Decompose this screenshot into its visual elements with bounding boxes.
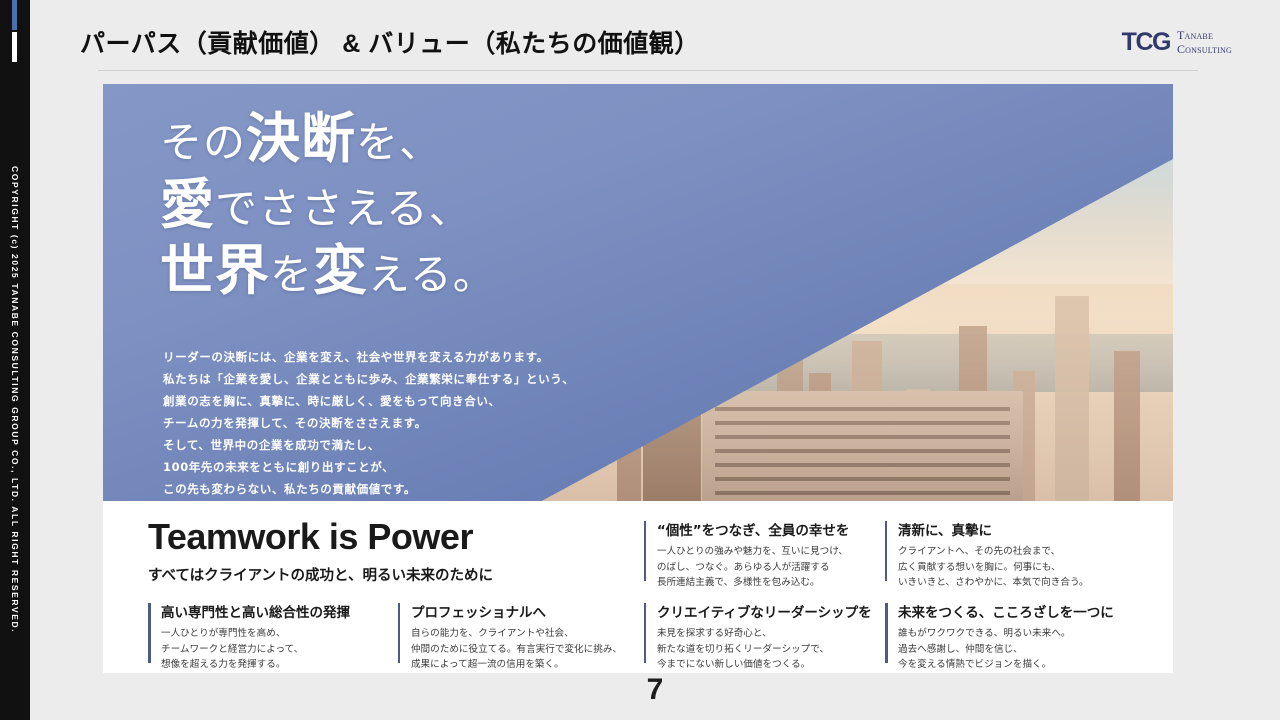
value-body-line: チームワークと経営力によって、 xyxy=(161,642,398,658)
values-grid: Teamwork is Power すべてはクライアントの成功と、明るい未来のた… xyxy=(148,519,1133,673)
headline-line-1: その決断を、 xyxy=(160,106,496,172)
value-body-line: 仲間のために役立てる。有言実行で変化に挑み、 xyxy=(411,642,644,658)
headline-seg: を、 xyxy=(356,118,442,167)
value-body-line: 未見を探求する好奇心と、 xyxy=(657,626,885,642)
value-title: 未来をつくる、こころざしを一つに xyxy=(898,601,1133,621)
header-divider xyxy=(98,70,1198,71)
value-title: プロフェッショナルへ xyxy=(411,601,644,621)
value-body-line: 長所連結主義で、多様性を包み込む。 xyxy=(657,575,885,591)
headline-seg: を xyxy=(270,250,313,299)
value-item-expertise: 高い専門性と高い総合性の発揮 一人ひとりが専門性を高め、 チームワークと経営力に… xyxy=(148,601,398,673)
headline-seg: 愛 xyxy=(160,173,215,236)
value-body-line: のばし、つなぐ。あらゆる人が活躍する xyxy=(657,560,885,576)
hero-body-paragraph: リーダーの決断には、企業を変え、社会や世界を変える力があります。 私たちは「企業… xyxy=(163,346,574,501)
value-title: クリエイティブなリーダーシップを xyxy=(657,601,885,621)
value-body-line: 想像を超える力を発揮する。 xyxy=(161,657,398,673)
headline-line-2: 愛でささえる、 xyxy=(160,172,496,238)
tanabe-consulting-logo: TCG Tanabe Consulting xyxy=(1122,28,1232,57)
value-title: “個性”をつなぎ、全員の幸せを xyxy=(657,519,885,539)
page-title: パーパス（貢献価値） & バリュー（私たちの価値観） xyxy=(80,24,700,60)
value-body-line: 成果によって超一流の信用を築く。 xyxy=(411,657,644,673)
copyright-notice: COPYRIGHT (c) 2025 TANABE CONSULTING GRO… xyxy=(0,0,30,720)
value-body-line: 今までにない新しい価値をつくる。 xyxy=(657,657,885,673)
value-body: 誰もがワクワクできる、明るい未来へ。 過去へ感謝し、仲間を信じ、 今を変える情熱… xyxy=(898,626,1133,673)
value-title: 清新に、真摯に xyxy=(898,519,1133,539)
values-row-top: Teamwork is Power すべてはクライアントの成功と、明るい未来のた… xyxy=(148,519,1133,601)
value-body-line: 誰もがワクワクできる、明るい未来へ。 xyxy=(898,626,1133,642)
logo-word-line2: Consulting xyxy=(1177,43,1232,56)
value-body: 自らの能力を、クライアントや社会、 仲間のために役立てる。有言実行で変化に挑み、… xyxy=(411,626,644,673)
headline-seg: でささえる、 xyxy=(215,184,472,233)
value-body: 一人ひとりの強みや魅力を、互いに見つけ、 のばし、つなぐ。あらゆる人が活躍する … xyxy=(657,544,885,591)
value-body: 一人ひとりが専門性を高め、 チームワークと経営力によって、 想像を超える力を発揮… xyxy=(161,626,398,673)
value-body-line: 自らの能力を、クライアントや社会、 xyxy=(411,626,644,642)
hero-body-line: チームの力を発揮して、その決断をささえます。 xyxy=(163,412,574,434)
value-body-line: 新たな道を切り拓くリーダーシップで、 xyxy=(657,642,885,658)
logo-wordmark: Tanabe Consulting xyxy=(1177,29,1232,56)
brand-statement-en: Teamwork is Power xyxy=(148,519,644,555)
logo-mark-tcg: TCG xyxy=(1122,28,1170,57)
headline-seg: 決断 xyxy=(246,107,356,170)
headline-seg: える。 xyxy=(368,250,496,299)
value-item-leadership: クリエイティブなリーダーシップを 未見を探求する好奇心と、 新たな道を切り拓くリ… xyxy=(644,601,885,673)
value-body-line: 一人ひとりが専門性を高め、 xyxy=(161,626,398,642)
headline-line-3: 世界を変える。 xyxy=(160,238,496,304)
hero-body-line: この先も変わらない、私たちの貢献価値です。 xyxy=(163,478,574,500)
hero-headline: その決断を、 愛でささえる、 世界を変える。 xyxy=(160,106,496,304)
hero-body-line: 創業の志を胸に、真摯に、時に厳しく、愛をもって向き合い、 xyxy=(163,390,574,412)
slide-canvas: パーパス（貢献価値） & バリュー（私たちの価値観） TCG Tanabe Co… xyxy=(30,0,1280,720)
values-row-bottom: 高い専門性と高い総合性の発揮 一人ひとりが専門性を高め、 チームワークと経営力に… xyxy=(148,601,1133,673)
value-body: 未見を探求する好奇心と、 新たな道を切り拓くリーダーシップで、 今までにない新し… xyxy=(657,626,885,673)
hero-body-line: リーダーの決断には、企業を変え、社会や世界を変える力があります。 xyxy=(163,346,574,368)
logo-word-line1: Tanabe xyxy=(1177,29,1232,42)
value-body-line: いきいきと、さわやかに、本気で向き合う。 xyxy=(898,575,1133,591)
copyright-text: COPYRIGHT (c) 2025 TANABE CONSULTING GRO… xyxy=(10,166,20,633)
brand-statement: Teamwork is Power すべてはクライアントの成功と、明るい未来のた… xyxy=(148,519,644,601)
content-card: その決断を、 愛でささえる、 世界を変える。 リーダーの決断には、企業を変え、社… xyxy=(103,84,1173,673)
hero-banner: その決断を、 愛でささえる、 世界を変える。 リーダーの決断には、企業を変え、社… xyxy=(103,84,1173,501)
value-title: 高い専門性と高い総合性の発揮 xyxy=(161,601,398,621)
left-sidebar-rail: COPYRIGHT (c) 2025 TANABE CONSULTING GRO… xyxy=(0,0,30,720)
value-body-line: 広く貢献する想いを胸に。何事にも、 xyxy=(898,560,1133,576)
hero-body-line: そして、世界中の企業を成功で満たし、 xyxy=(163,434,574,456)
brand-statement-jp: すべてはクライアントの成功と、明るい未来のために xyxy=(148,564,644,585)
headline-seg: 世界 xyxy=(160,239,270,302)
value-body: クライアントへ、その先の社会まで、 広く貢献する想いを胸に。何事にも、 いきいき… xyxy=(898,544,1133,591)
value-body-line: 過去へ感謝し、仲間を信じ、 xyxy=(898,642,1133,658)
value-body-line: 今を変える情熱でビジョンを描く。 xyxy=(898,657,1133,673)
page-number: 7 xyxy=(30,673,1280,707)
value-body-line: クライアントへ、その先の社会まで、 xyxy=(898,544,1133,560)
headline-seg: 変 xyxy=(313,239,368,302)
values-panel: Teamwork is Power すべてはクライアントの成功と、明るい未来のた… xyxy=(103,501,1173,673)
slide-header: パーパス（貢献価値） & バリュー（私たちの価値観） TCG Tanabe Co… xyxy=(30,0,1280,78)
value-item-professional: プロフェッショナルへ 自らの能力を、クライアントや社会、 仲間のために役立てる。… xyxy=(398,601,644,673)
headline-seg: その xyxy=(160,118,246,167)
hero-body-line: 100年先の未来をともに創り出すことが、 xyxy=(163,456,574,478)
value-item-freshness: 清新に、真摯に クライアントへ、その先の社会まで、 広く貢献する想いを胸に。何事… xyxy=(885,519,1133,601)
hero-body-line: 私たちは「企業を愛し、企業とともに歩み、企業繁栄に奉仕する」という、 xyxy=(163,368,574,390)
value-body-line: 一人ひとりの強みや魅力を、互いに見つけ、 xyxy=(657,544,885,560)
value-item-individuality: “個性”をつなぎ、全員の幸せを 一人ひとりの強みや魅力を、互いに見つけ、 のばし… xyxy=(644,519,885,601)
value-item-future: 未来をつくる、こころざしを一つに 誰もがワクワクできる、明るい未来へ。 過去へ感… xyxy=(885,601,1133,673)
